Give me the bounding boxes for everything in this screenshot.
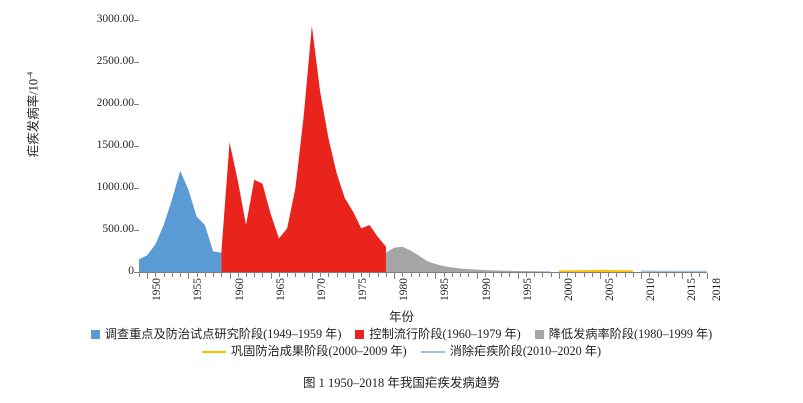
x-axis-tick-minor <box>304 273 305 277</box>
legend-item[interactable]: 巩固防治成果阶段(2000–2009 年) <box>202 343 407 360</box>
legend-item-label: 调查重点及防治试点研究阶段(1949–1959 年) <box>105 326 342 343</box>
x-axis-tick-minor <box>139 273 140 277</box>
legend-box-swatch-icon <box>535 330 544 339</box>
legend-item-label: 控制流行阶段(1960–1979 年) <box>369 326 520 343</box>
x-axis-tick-major <box>230 273 231 279</box>
legend-line-swatch-icon <box>421 351 445 353</box>
x-axis-tick-major <box>707 273 708 279</box>
legend-item[interactable]: 消除疟疾阶段(2010–2020 年) <box>421 343 601 360</box>
y-axis-tick-label: 2500.00 <box>68 56 134 68</box>
y-axis-title: 疟疾发病率/10-4 <box>23 35 42 195</box>
x-axis-tick-minor <box>320 273 321 277</box>
x-axis-tick-minor <box>592 273 593 277</box>
x-axis-tick-minor <box>197 273 198 277</box>
x-axis-tick-minor <box>213 273 214 277</box>
x-axis-tick-minor <box>345 273 346 277</box>
x-axis-tick-major <box>312 273 313 279</box>
y-axis-tick-label: 0 <box>68 266 134 278</box>
x-axis-tick-label: 1975 <box>358 278 370 301</box>
legend-item-label: 巩固防治成果阶段(2000–2009 年) <box>231 343 407 360</box>
x-axis-tick-major <box>682 273 683 279</box>
x-axis-tick-minor <box>411 273 412 277</box>
x-axis-tick-label: 2015 <box>687 278 699 301</box>
y-axis-tick-label: 1500.00 <box>68 140 134 152</box>
x-axis-tick-major <box>271 273 272 279</box>
x-axis-tick-minor <box>460 273 461 277</box>
legend-row-primary: 调查重点及防治试点研究阶段(1949–1959 年)控制流行阶段(1960–19… <box>0 326 803 343</box>
y-axis-labels: 3000.002500.002000.001500.001000.00500.0… <box>62 0 134 300</box>
x-axis-tick-minor <box>361 273 362 277</box>
series-area <box>139 171 221 272</box>
x-axis-tick-minor <box>444 273 445 277</box>
x-axis-tick-minor <box>633 273 634 277</box>
x-axis-tick-minor <box>468 273 469 277</box>
y-axis-tick-mark <box>134 272 139 273</box>
legend-item-label: 消除疟疾阶段(2010–2020 年) <box>450 343 601 360</box>
x-axis-tick-minor <box>567 273 568 277</box>
series-area <box>386 247 551 272</box>
series-area <box>221 26 386 272</box>
x-axis-tick-minor <box>551 273 552 277</box>
x-axis-tick-minor <box>493 273 494 277</box>
x-axis-tick-minor <box>608 273 609 277</box>
x-axis-tick-label: 1955 <box>193 278 205 301</box>
x-axis-tick-minor <box>666 273 667 277</box>
y-axis-tick-label: 3000.00 <box>68 14 134 26</box>
x-axis-tick-major <box>188 273 189 279</box>
x-axis-tick-major <box>394 273 395 279</box>
x-axis-tick-minor <box>452 273 453 277</box>
y-axis-tick-label: 500.00 <box>68 224 134 236</box>
x-axis-tick-minor <box>542 273 543 277</box>
x-axis-tick-major <box>147 273 148 279</box>
x-axis-tick-minor <box>534 273 535 277</box>
x-axis-tick-minor <box>164 273 165 277</box>
x-axis-tick-minor <box>221 273 222 277</box>
chart-plot-wrapper: 3000.002500.002000.001500.001000.00500.0… <box>0 0 803 320</box>
y-axis-tick-mark <box>134 20 139 21</box>
legend-item[interactable]: 降低发病率阶段(1980–1999 年) <box>535 326 713 343</box>
x-axis-tick-minor <box>262 273 263 277</box>
y-axis-tick-mark <box>134 104 139 105</box>
y-axis-tick-mark <box>134 146 139 147</box>
legend-box-swatch-icon <box>91 330 100 339</box>
series-layer <box>139 20 707 272</box>
y-axis-title-exponent: -4 <box>24 72 34 79</box>
figure-caption: 图 1 1950–2018 年我国疟疾发病趋势 <box>0 372 803 391</box>
x-axis-tick-label: 1970 <box>317 278 329 301</box>
x-axis-tick-minor <box>337 273 338 277</box>
x-axis-tick-minor <box>649 273 650 277</box>
x-axis-tick-label: 2018 <box>712 278 724 301</box>
x-axis-title: 年份 <box>0 306 803 325</box>
x-axis-tick-minor <box>625 273 626 277</box>
chart-legend: 调查重点及防治试点研究阶段(1949–1959 年)控制流行阶段(1960–19… <box>0 326 803 360</box>
legend-item[interactable]: 控制流行阶段(1960–1979 年) <box>355 326 520 343</box>
x-axis-line <box>139 272 707 273</box>
x-axis-tick-minor <box>526 273 527 277</box>
series-line <box>559 271 633 272</box>
x-axis-tick-label: 1995 <box>523 278 535 301</box>
y-axis-title-text: 疟疾发病率/10 <box>27 79 41 157</box>
y-axis-tick-label: 2000.00 <box>68 98 134 110</box>
legend-line-swatch-icon <box>202 351 226 353</box>
x-axis-tick-minor <box>699 273 700 277</box>
x-axis-tick-minor <box>658 273 659 277</box>
x-axis-tick-label: 2005 <box>605 278 617 301</box>
x-axis-tick-minor <box>155 273 156 277</box>
x-axis-tick-minor <box>509 273 510 277</box>
x-axis-tick-major <box>559 273 560 279</box>
x-axis-tick-minor <box>254 273 255 277</box>
x-axis-tick-minor <box>485 273 486 277</box>
x-axis-tick-minor <box>172 273 173 277</box>
x-axis-tick-label: 2010 <box>646 278 658 301</box>
legend-item[interactable]: 调查重点及防治试点研究阶段(1949–1959 年) <box>91 326 342 343</box>
x-axis-tick-minor <box>378 273 379 277</box>
legend-row-secondary: 巩固防治成果阶段(2000–2009 年)消除疟疾阶段(2010–2020 年) <box>0 343 803 360</box>
x-axis-tick-major <box>435 273 436 279</box>
x-axis-tick-minor <box>295 273 296 277</box>
x-axis-tick-minor <box>674 273 675 277</box>
x-axis-tick-minor <box>386 273 387 277</box>
x-axis-tick-label: 1980 <box>399 278 411 301</box>
x-axis-tick-minor <box>402 273 403 277</box>
y-axis-tick-mark <box>134 188 139 189</box>
x-axis-tick-major <box>600 273 601 279</box>
legend-item-label: 降低发病率阶段(1980–1999 年) <box>549 326 713 343</box>
x-axis-tick-minor <box>501 273 502 277</box>
x-axis-tick-minor <box>427 273 428 277</box>
x-axis-tick-minor <box>584 273 585 277</box>
x-axis-tick-label: 1950 <box>152 278 164 301</box>
x-axis-tick-minor <box>180 273 181 277</box>
x-axis-tick-major <box>641 273 642 279</box>
x-axis-tick-minor <box>369 273 370 277</box>
x-axis-tick-label: 1985 <box>440 278 452 301</box>
x-axis-tick-label: 1960 <box>235 278 247 301</box>
x-axis-tick-label: 1965 <box>276 278 288 301</box>
x-axis-tick-minor <box>691 273 692 277</box>
legend-box-swatch-icon <box>355 330 364 339</box>
x-axis-tick-minor <box>287 273 288 277</box>
y-axis-tick-label: 1000.00 <box>68 182 134 194</box>
x-axis-tick-label: 1990 <box>482 278 494 301</box>
x-axis-tick-label: 2000 <box>564 278 576 301</box>
y-axis-tick-mark <box>134 230 139 231</box>
figure-container: 3000.002500.002000.001500.001000.00500.0… <box>0 0 803 403</box>
x-axis-tick-major <box>518 273 519 279</box>
x-axis-tick-minor <box>279 273 280 277</box>
x-axis-tick-minor <box>419 273 420 277</box>
x-axis-tick-major <box>353 273 354 279</box>
y-axis-tick-mark <box>134 62 139 63</box>
x-axis-tick-minor <box>328 273 329 277</box>
x-axis-tick-minor <box>205 273 206 277</box>
x-axis-tick-major <box>477 273 478 279</box>
x-axis-tick-minor <box>575 273 576 277</box>
plot-area <box>139 20 707 272</box>
x-axis-tick-minor <box>238 273 239 277</box>
x-axis-tick-minor <box>246 273 247 277</box>
x-axis-tick-minor <box>616 273 617 277</box>
